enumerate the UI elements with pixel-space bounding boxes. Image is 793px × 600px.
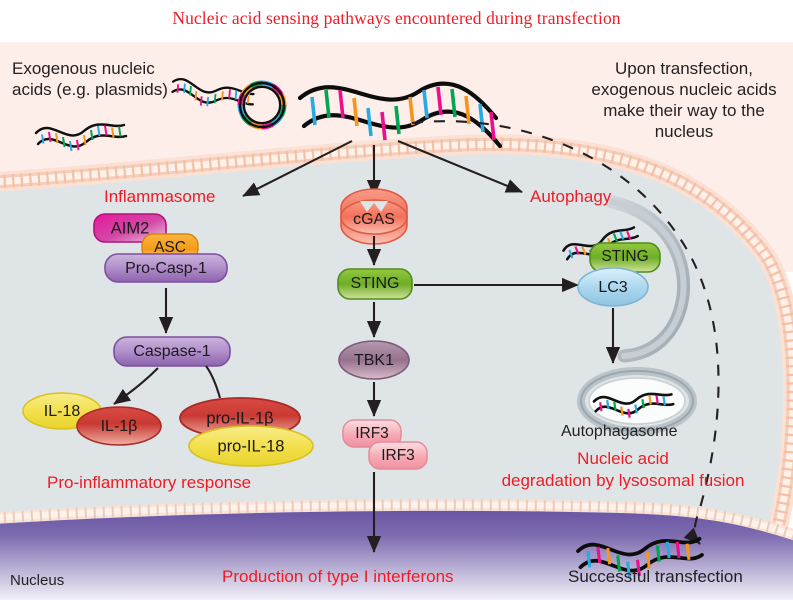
node-caspase1-label: Caspase-1 [133,343,210,360]
node-cgas: cGAS [341,189,407,244]
node-cgas-label: cGAS [353,211,395,228]
node-tbk1: TBK1 [339,341,409,379]
node-aim2-label: AIM2 [111,219,150,237]
node-sting-autophagy-label: STING [601,248,648,265]
node-irf3-a-label: IRF3 [355,425,389,442]
label-inflammasome: Inflammasome [104,186,215,207]
label-nucleic-acid-degradation: Nucleic acid degradation by lysosomal fu… [460,448,786,492]
node-pro-il18: pro-IL-18 [189,426,313,466]
label-production-type-i-interferons: Production of type I interferons [222,566,454,587]
node-il1b: IL-1β [77,407,161,445]
node-irf3-b: IRF3 [369,442,427,469]
node-lc3-label: LC3 [598,279,627,296]
node-lc3: LC3 [578,268,648,306]
node-sting-autophagy: STING [590,243,660,272]
label-successful-transfection: Successful transfection [568,566,743,587]
node-sting-center-label: STING [351,275,400,292]
label-autophagy: Autophagy [530,186,611,207]
node-sting-center: STING [338,269,412,299]
label-nucleus: Nucleus [10,570,64,591]
label-exogenous-nucleic-acids: Exogenous nucleic acids (e.g. plasmids) [12,58,168,100]
node-il1b-label: IL-1β [101,418,138,435]
node-pro-il1b-label: pro-IL-1β [206,409,273,427]
pathway-figure: Nucleic acid sensing pathways encountere… [0,0,793,600]
node-caspase1: Caspase-1 [114,337,230,366]
label-pro-inflammatory-response: Pro-inflammatory response [47,472,251,493]
node-pro-il18-label: pro-IL-18 [218,437,285,455]
label-upon-transfection: Upon transfection, exogenous nucleic aci… [580,58,788,142]
node-irf3-b-label: IRF3 [381,447,415,464]
node-pro-casp1-label: Pro-Casp-1 [125,260,207,277]
node-il18-label: IL-18 [44,403,81,420]
label-autophagasome: Autophagasome [561,421,678,442]
node-tbk1-label: TBK1 [354,352,394,369]
node-pro-casp1: Pro-Casp-1 [105,254,227,282]
